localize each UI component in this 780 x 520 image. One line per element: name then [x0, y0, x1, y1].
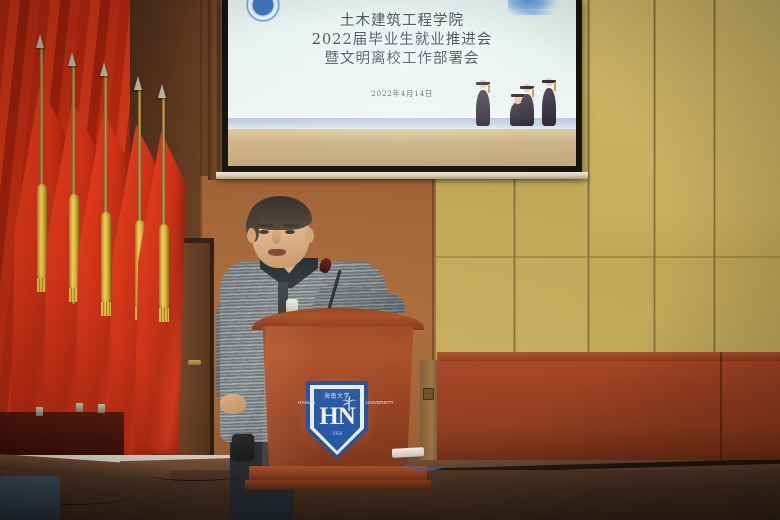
wall-socket[interactable] — [423, 388, 434, 400]
hainan-university-emblem: 海南大学 HN 1958 HAINAN UNIVERSITY — [297, 374, 377, 466]
speaker-eye — [285, 230, 295, 234]
slide-title-line-2: 2022届毕业生就业推进会 — [228, 31, 576, 50]
slide-sand-band — [228, 129, 576, 166]
speaker-ear — [305, 228, 314, 243]
flag-clip — [36, 407, 43, 416]
slide-title-line-1: 土木建筑工程学院 — [228, 12, 576, 31]
speaker-nose — [272, 230, 281, 244]
ceremonial-flag-group — [0, 0, 200, 520]
conference-hall-photo: 土木建筑工程学院 2022届毕业生就业推进会 暨文明离校工作部署会 2022年4… — [0, 0, 780, 520]
graduates-illustration — [476, 64, 562, 126]
wooden-rail-seam — [720, 352, 722, 460]
waist-pouch — [232, 434, 254, 460]
speaker-eye — [259, 230, 269, 234]
wooden-rail — [437, 352, 780, 460]
graduate-figure — [542, 74, 558, 126]
speaker-eyebrow — [258, 224, 273, 227]
wooden-rail-top — [437, 352, 780, 361]
ceremonial-flag — [134, 84, 204, 456]
podium-plinth-lower — [245, 480, 431, 490]
emblem-english-left: HAINAN — [298, 400, 308, 406]
speaker-mouth — [268, 249, 286, 256]
presentation-slide: 土木建筑工程学院 2022届毕业生就业推进会 暨文明离校工作部署会 2022年4… — [228, 0, 576, 166]
floor-cable — [150, 470, 240, 481]
flag-clip — [98, 404, 105, 413]
wall-panel-seam — [436, 256, 780, 258]
speaker-ear — [247, 228, 256, 243]
emblem-english-right: UNIVERSITY — [366, 400, 376, 406]
palm-tree-icon — [341, 396, 357, 412]
projection-screen: 土木建筑工程学院 2022届毕业生就业推进会 暨文明离校工作部署会 2022年4… — [228, 0, 576, 166]
screen-bottom-bar — [216, 172, 588, 179]
screen-support-post — [208, 0, 220, 180]
foreground-chair — [0, 476, 60, 520]
speaker-eyebrow — [284, 224, 299, 227]
emblem-founding-year: 1958 — [314, 432, 360, 437]
graduate-figure — [520, 80, 536, 126]
graduate-figure — [476, 76, 492, 126]
flag-clip — [76, 403, 83, 412]
speaker-left-hand — [220, 394, 246, 414]
slide-title: 土木建筑工程学院 2022届毕业生就业推进会 暨文明离校工作部署会 — [228, 12, 576, 69]
